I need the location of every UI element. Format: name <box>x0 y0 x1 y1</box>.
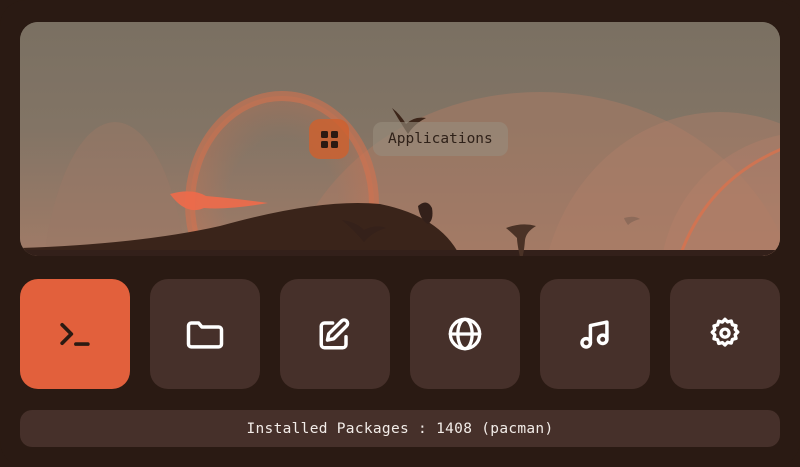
music-note-icon <box>573 312 617 356</box>
folder-icon <box>183 312 227 356</box>
pencil-square-icon <box>313 312 357 356</box>
desktop-root: Applications <box>0 0 800 467</box>
dock-item-files[interactable] <box>150 279 260 389</box>
terminal-prompt-icon <box>53 312 97 356</box>
dock-item-terminal[interactable] <box>20 279 130 389</box>
dock <box>20 279 780 389</box>
status-bar: Installed Packages : 1408 (pacman) <box>20 410 780 447</box>
installed-packages-text: Installed Packages : 1408 (pacman) <box>246 421 553 437</box>
dock-item-music-player[interactable] <box>540 279 650 389</box>
applications-tooltip: Applications <box>373 122 508 156</box>
grid-apps-icon <box>321 131 338 148</box>
applications-launcher-button[interactable] <box>309 119 349 159</box>
tooltip-label: Applications <box>388 131 493 147</box>
dock-item-settings[interactable] <box>670 279 780 389</box>
wallpaper: Applications <box>20 22 780 256</box>
globe-icon <box>443 312 487 356</box>
dock-item-text-editor[interactable] <box>280 279 390 389</box>
dock-item-web-browser[interactable] <box>410 279 520 389</box>
gear-icon <box>704 313 746 355</box>
